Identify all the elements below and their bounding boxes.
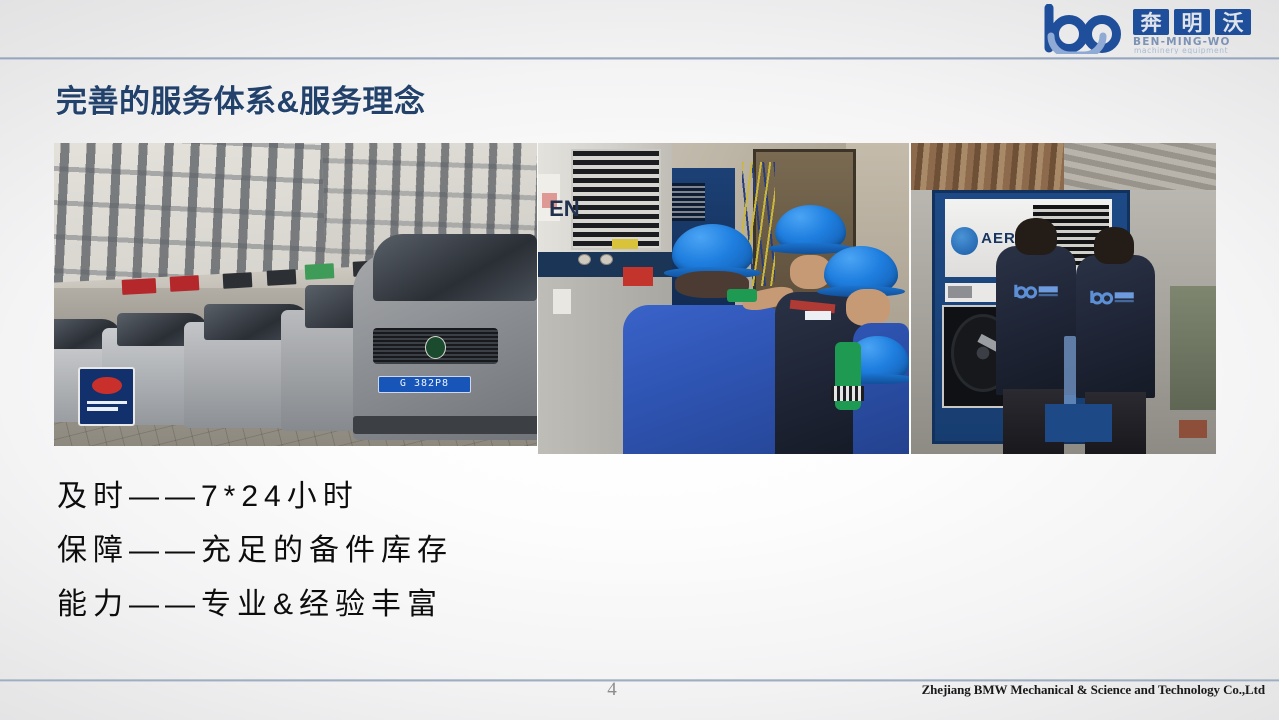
service-line-2: 保障——充足的备件库存 [57, 524, 677, 578]
footer-company-name: Zhejiang BMW Mechanical & Science and Te… [922, 682, 1265, 698]
svg-text:沃: 沃 [1223, 11, 1244, 35]
slide-canvas: 奔 明 沃 BEN-MING-WO machinery equipment 完善… [0, 0, 1279, 720]
aerzen-mark-icon [951, 227, 978, 255]
page-title: 完善的服务体系&服务理念 [56, 76, 425, 121]
service-line-1: 及时——7*24小时 [57, 470, 677, 524]
uniform-logo-left [1012, 280, 1061, 302]
company-logo: 奔 明 沃 BEN-MING-WO machinery equipment [1041, 4, 1267, 54]
svg-text:machinery equipment: machinery equipment [1134, 46, 1228, 54]
license-plate: G 382P8 [378, 376, 472, 393]
photo-fleet-of-service-cars: G 382P8 [54, 143, 537, 446]
photo-technicians-at-aerzen-unit: AERZEN [911, 143, 1216, 454]
service-line-3: 能力——专业&经验丰富 [57, 578, 677, 632]
uniform-logo-right [1088, 286, 1137, 308]
photo-strip: G 382P8 [54, 143, 1216, 455]
header-divider [0, 57, 1279, 60]
aerzen-partial-label: EN [549, 196, 580, 222]
photo-engineers-servicing-blower: EN [538, 143, 909, 454]
service-promise-list: 及时——7*24小时 保障——充足的备件库存 能力——专业&经验丰富 [57, 470, 677, 632]
page-number: 4 [600, 679, 624, 701]
info-sign [78, 367, 135, 426]
svg-text:明: 明 [1182, 11, 1203, 35]
svg-text:奔: 奔 [1141, 11, 1163, 35]
